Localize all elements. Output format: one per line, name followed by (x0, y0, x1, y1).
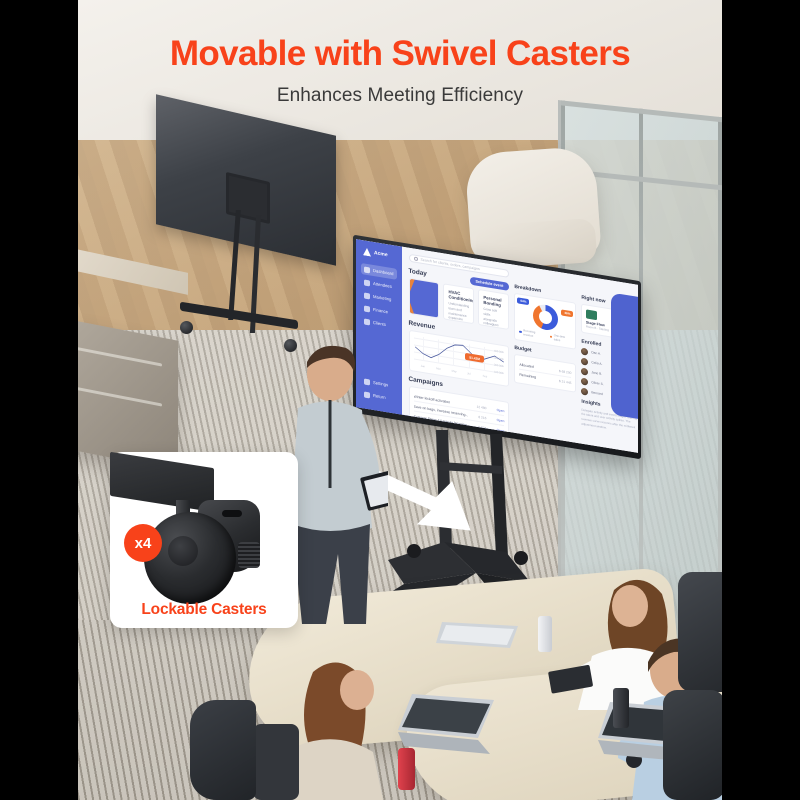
avatar (581, 387, 588, 395)
x-tick: Sep (483, 375, 488, 379)
y-tick: 100 000 (494, 371, 503, 376)
breakdown-tag-secondary: 36% (561, 309, 573, 317)
donut (533, 302, 558, 331)
campaign-action[interactable]: Open (490, 406, 504, 412)
revenue-line (414, 335, 505, 374)
tablet-device (436, 618, 524, 654)
pointer-arrow (374, 468, 482, 540)
breakdown-tag-primary: 54% (517, 297, 529, 305)
today-card[interactable]: Stage Flow Experience master strategy an… (409, 278, 440, 319)
briefcase-icon (364, 318, 370, 325)
x-tick: Jul (467, 372, 470, 376)
avatar (581, 377, 588, 385)
legend-swatch (519, 330, 521, 333)
caster-slot (222, 510, 242, 517)
card-title: Personal Bonding (483, 295, 504, 308)
dashboard-center-column: Search for clients, orders, campaigns To… (409, 254, 510, 432)
quantity-badge: x4 (124, 524, 162, 562)
office-chair (663, 690, 722, 800)
sidebar-item-label: Marketing (373, 294, 391, 302)
avatar (581, 357, 588, 365)
background-caster-icon (180, 321, 193, 334)
page-title: Movable with Swivel Casters (78, 36, 722, 73)
search-icon (414, 256, 418, 261)
background-stand-base (180, 302, 298, 330)
screenshot-root: Acme Dashboard Attendees (0, 0, 800, 800)
product-photo-scene: Acme Dashboard Attendees (78, 0, 722, 800)
budget-panel: Allocated $ 68 200 Remaining $ 21 445 (514, 354, 576, 393)
page-subtitle: Enhances Meeting Efficiency (78, 85, 722, 107)
caster-lock-lever (238, 542, 260, 568)
budget-name: Remaining (519, 372, 553, 382)
tv-screen: Acme Dashboard Attendees (356, 239, 638, 453)
attendee-woman-front (253, 638, 413, 800)
card-title: HVAC Conditioning (448, 289, 469, 302)
budget-value: $ 68 200 (557, 368, 571, 374)
campaign-value: 12 480 (472, 404, 486, 410)
person-name: Celia A. (591, 360, 602, 366)
budget-value: $ 21 445 (557, 378, 571, 384)
background-tv-stand (156, 115, 371, 365)
lockable-casters-callout: x4 Lockable Casters (110, 452, 298, 628)
brand: Acme (361, 247, 397, 261)
person-name: Dan A. (591, 350, 601, 356)
card-artwork (410, 278, 439, 319)
dashboard-secondary-column: Breakdown 54% 36% (514, 271, 576, 443)
revenue-chart: 400 000 300 000 200 000 100 000 Jan Mar … (414, 335, 505, 381)
person-name: Bernard (591, 390, 602, 396)
brand-name: Acme (374, 250, 388, 258)
wallet-icon (364, 305, 370, 312)
grid-icon (364, 266, 370, 273)
headline-block: Movable with Swivel Casters Enhances Mee… (78, 0, 722, 118)
sidebar-item-label: Attendees (373, 281, 392, 289)
sidebar-item-label: Dashboard (373, 268, 394, 276)
person-name: Jane B. (591, 370, 602, 376)
card-meta: 4 min (414, 318, 435, 319)
x-tick: May (452, 370, 457, 374)
today-card[interactable]: HVAC Conditioning Understanding team and… (443, 283, 474, 324)
session-thumbnail (586, 309, 597, 320)
campaign-value: 8 216 (472, 414, 486, 420)
water-bottle (398, 748, 415, 790)
megaphone-icon (364, 292, 370, 299)
dashboard-blue-accent-right (611, 293, 638, 421)
card-description: Grow soft skills alongside colleagues fr… (483, 307, 504, 330)
breakdown-panel: 54% 36% Recurring revenue (514, 293, 576, 350)
brand-logo-icon (363, 247, 371, 256)
sidebar-item-label: Clients (373, 320, 386, 327)
water-bottle (538, 616, 552, 652)
content-page: Acme Dashboard Attendees (78, 0, 722, 800)
office-chair (678, 572, 722, 692)
sidebar-item-label: Finance (373, 307, 388, 314)
x-tick: Mar (436, 367, 440, 371)
callout-label: Lockable Casters (110, 601, 298, 619)
today-title: Today (409, 267, 427, 277)
campaign-action[interactable]: Open (490, 416, 504, 422)
x-tick: Jan (421, 365, 425, 369)
person-name: Oliver S. (591, 380, 603, 386)
card-description: Understanding team and maintenance expan… (448, 301, 469, 324)
water-bottle (613, 688, 629, 728)
users-icon (364, 279, 370, 286)
legend-label: One-time sales (554, 333, 572, 344)
main-tv-display: Acme Dashboard Attendees (353, 258, 641, 458)
avatar (581, 367, 588, 375)
caster-mount-bar (110, 452, 214, 512)
legend-swatch (550, 335, 552, 338)
card-meta: 22 min (448, 323, 469, 324)
caster-hub (168, 536, 198, 566)
today-card[interactable]: Personal Bonding Grow soft skills alongs… (478, 289, 509, 330)
dashboard-app: Acme Dashboard Attendees (356, 239, 638, 453)
office-chair (190, 700, 256, 800)
avatar (581, 347, 588, 355)
